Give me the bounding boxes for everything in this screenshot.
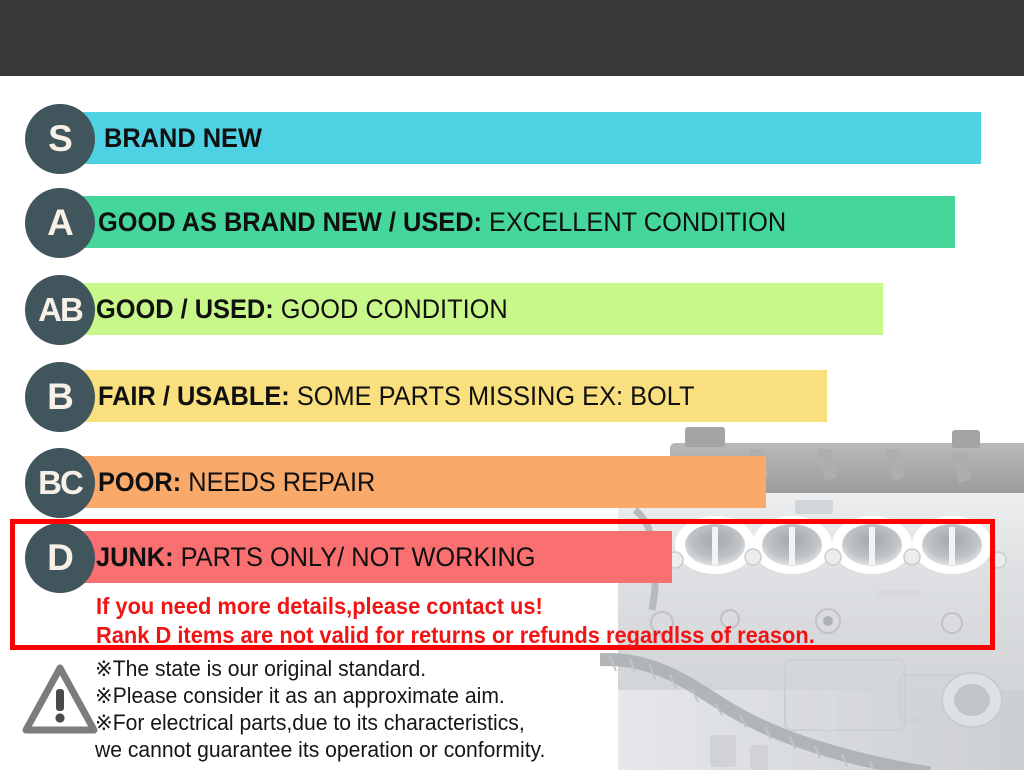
grade-text-s: BRAND NEW	[104, 112, 262, 164]
grade-badge-s: S	[25, 104, 95, 174]
footer-note-line: ※The state is our original standard.	[95, 655, 545, 682]
grade-badge-label: BC	[38, 464, 82, 502]
grade-badge-label: S	[48, 118, 72, 160]
grade-text-b: FAIR / USABLE: SOME PARTS MISSING EX: BO…	[98, 370, 695, 422]
grade-badge-label: B	[47, 376, 73, 418]
footer-note-line: ※For electrical parts,due to its charact…	[95, 709, 545, 736]
alert-text-no-returns: Rank D items are not valid for returns o…	[96, 622, 815, 649]
grade-text-bc: POOR: NEEDS REPAIR	[98, 456, 375, 508]
footer-note-line: we cannot guarantee its operation or con…	[95, 736, 545, 763]
grade-bold-text: BRAND NEW	[104, 123, 262, 153]
alert-text-contact: If you need more details,please contact …	[96, 593, 543, 620]
grade-light-text: NEEDS REPAIR	[181, 467, 375, 497]
grade-badge-label: AB	[38, 291, 82, 329]
grade-bold-text: FAIR / USABLE:	[98, 381, 290, 411]
grade-badge-b: B	[25, 362, 95, 432]
grade-bold-text: POOR:	[98, 467, 181, 497]
grade-badge-label: A	[47, 202, 73, 244]
grade-badge-ab: AB	[25, 275, 95, 345]
grade-light-text: SOME PARTS MISSING EX: BOLT	[290, 381, 695, 411]
warning-triangle-icon	[22, 662, 98, 736]
grade-text-a: GOOD AS BRAND NEW / USED: EXCELLENT COND…	[98, 196, 786, 248]
grade-light-text: EXCELLENT CONDITION	[482, 207, 786, 237]
grade-badge-bc: BC	[25, 448, 95, 518]
grade-bold-text: GOOD AS BRAND NEW / USED:	[98, 207, 482, 237]
grade-bold-text: GOOD / USED:	[96, 294, 274, 324]
grade-badge-a: A	[25, 188, 95, 258]
footer-note-line: ※Please consider it as an approximate ai…	[95, 682, 545, 709]
header-bar	[0, 0, 1024, 76]
grade-text-ab: GOOD / USED: GOOD CONDITION	[96, 283, 508, 335]
footer-notes: ※The state is our original standard. ※Pl…	[95, 655, 564, 763]
grade-light-text: GOOD CONDITION	[274, 294, 508, 324]
